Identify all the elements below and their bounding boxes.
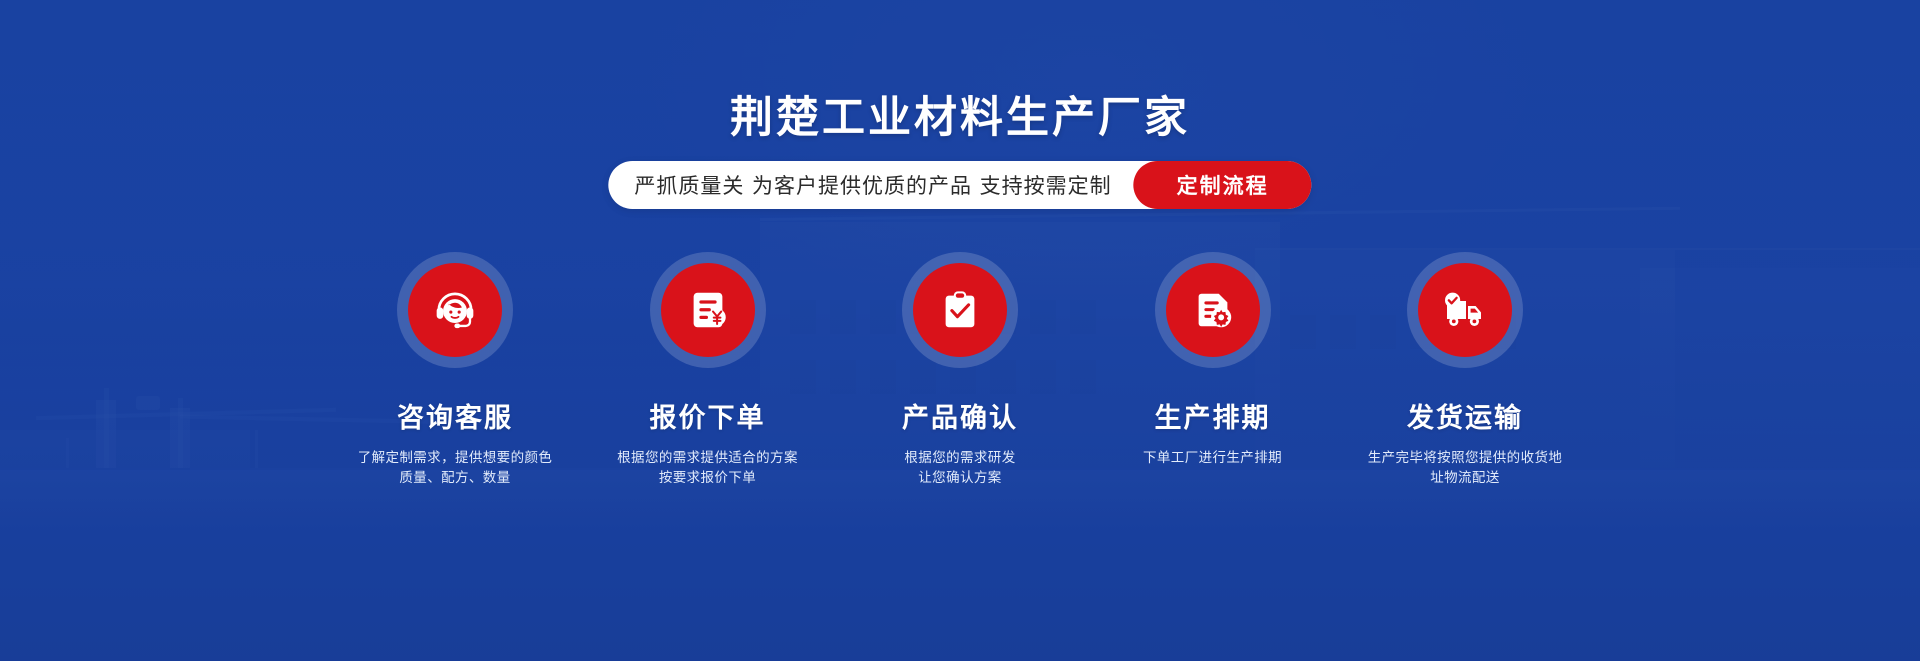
hero-banner: 荆楚工业材料生产厂家 严抓质量关 为客户提供优质的产品 支持按需定制 定制流程 (0, 0, 1920, 661)
icon-disc (661, 263, 755, 357)
icon-ring (1407, 252, 1523, 368)
banner-content: 荆楚工业材料生产厂家 严抓质量关 为客户提供优质的产品 支持按需定制 定制流程 (0, 0, 1920, 661)
step-desc-line2: 让您确认方案 (904, 468, 1015, 488)
step-item-schedule[interactable]: 生产排期 下单工厂进行生产排期 (1088, 252, 1338, 488)
step-item-confirm[interactable]: 产品确认 根据您的需求研发 让您确认方案 (835, 252, 1085, 488)
step-title: 报价下单 (650, 396, 766, 435)
step-title: 产品确认 (902, 396, 1018, 435)
step-desc-line2: 按要求报价下单 (617, 468, 798, 488)
icon-disc (913, 263, 1007, 357)
step-desc: 了解定制需求，提供想要的颜色 质量、配方、数量 (358, 448, 553, 488)
step-desc: 根据您的需求提供适合的方案 按要求报价下单 (617, 448, 798, 488)
step-desc-line2: 址物流配送 (1368, 468, 1563, 488)
invoice-yuan-quote-icon (685, 287, 731, 333)
icon-ring (902, 252, 1018, 368)
step-desc-line2: 质量、配方、数量 (358, 468, 553, 488)
step-desc-line1: 了解定制需求，提供想要的颜色 (358, 448, 553, 468)
step-item-delivery[interactable]: 发货运输 生产完毕将按照您提供的收货地 址物流配送 (1340, 252, 1590, 488)
icon-disc (1166, 263, 1260, 357)
step-desc-line1: 下单工厂进行生产排期 (1143, 448, 1282, 468)
icon-disc (1418, 263, 1512, 357)
slogan-pill: 严抓质量关 为客户提供优质的产品 支持按需定制 定制流程 (608, 161, 1311, 209)
icon-ring (650, 252, 766, 368)
step-desc-line1: 根据您的需求研发 (904, 448, 1015, 468)
step-item-quote[interactable]: 报价下单 根据您的需求提供适合的方案 按要求报价下单 (583, 252, 833, 488)
step-desc-line1: 生产完毕将按照您提供的收货地 (1368, 448, 1563, 468)
headset-customer-service-icon (430, 285, 480, 335)
step-desc: 生产完毕将按照您提供的收货地 址物流配送 (1368, 448, 1563, 488)
custom-process-button[interactable]: 定制流程 (1134, 161, 1312, 209)
step-desc: 下单工厂进行生产排期 (1143, 448, 1282, 468)
page-title: 荆楚工业材料生产厂家 (0, 92, 1920, 144)
clipboard-check-icon (937, 287, 983, 333)
step-item-consult[interactable]: 咨询客服 了解定制需求，提供想要的颜色 质量、配方、数量 (330, 252, 580, 488)
icon-ring (1155, 252, 1271, 368)
document-gear-production-icon (1190, 287, 1236, 333)
step-title: 咨询客服 (397, 396, 513, 435)
slogan-text: 严抓质量关 为客户提供优质的产品 支持按需定制 (634, 170, 1133, 200)
step-title: 生产排期 (1155, 396, 1271, 435)
process-steps: 咨询客服 了解定制需求，提供想要的颜色 质量、配方、数量 (330, 252, 1590, 488)
step-desc-line1: 根据您的需求提供适合的方案 (617, 448, 798, 468)
step-title: 发货运输 (1407, 396, 1523, 435)
icon-ring (397, 252, 513, 368)
step-desc: 根据您的需求研发 让您确认方案 (904, 448, 1015, 488)
delivery-truck-check-icon (1439, 286, 1491, 334)
icon-disc (408, 263, 502, 357)
